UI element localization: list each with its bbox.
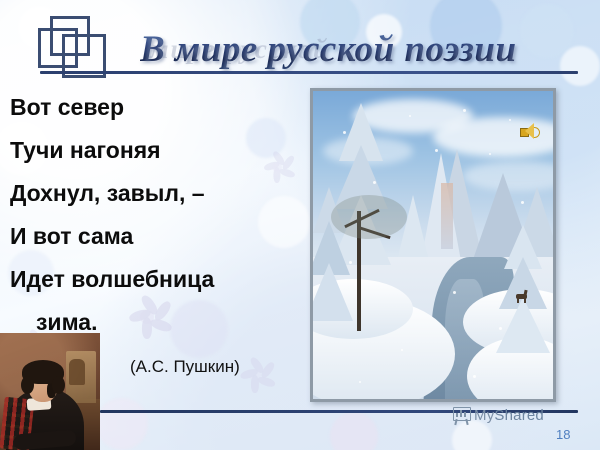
painting-deer (516, 290, 527, 303)
speaker-audio-icon[interactable] (520, 123, 539, 140)
poem-line: И вот сама (10, 215, 306, 258)
pushkin-portrait (0, 333, 100, 450)
watermark-label: MyShared (474, 407, 544, 424)
page-title: В мире русской поэзии (140, 28, 588, 71)
header-divider (40, 71, 578, 74)
presentation-board-icon (452, 406, 471, 425)
poem-attribution: (А.С. Пушкин) (130, 357, 240, 377)
speaker-cone (525, 123, 534, 139)
slide: мире русской В мире русской поэзии Вот с… (0, 0, 600, 450)
myshared-watermark: MyShared (452, 406, 544, 425)
slide-number: 18 (556, 427, 570, 442)
poem-block: Вот север Тучи нагоняя Дохнул, завыл, – … (10, 86, 306, 344)
poem-line: Тучи нагоняя (10, 129, 306, 172)
painting-bare-canopy (331, 195, 407, 239)
overlapping-squares-logo (38, 16, 116, 72)
poem-line: Идет волшебница (10, 258, 306, 301)
poem-line: Дохнул, завыл, – (10, 172, 306, 215)
portrait-hair (22, 360, 64, 384)
poem-line: Вот север (10, 86, 306, 129)
painting-conifer-tree (497, 225, 549, 345)
painting-rock-face (441, 183, 453, 249)
portrait-statue (66, 351, 96, 403)
winter-landscape-image[interactable] (310, 88, 556, 402)
watermark-shared: Shared (494, 407, 544, 424)
watermark-my: My (474, 407, 494, 424)
